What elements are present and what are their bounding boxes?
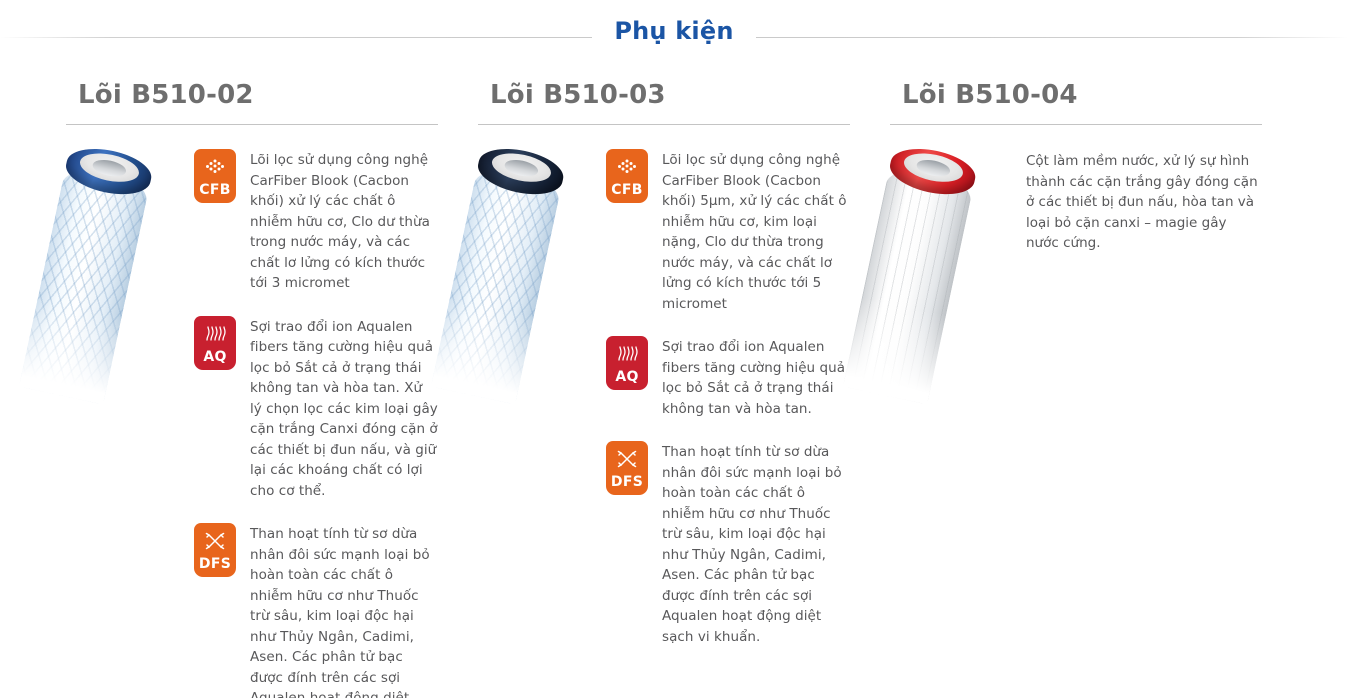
feature-text: Lõi lọc sử dụng công nghệ CarFiber Blook… — [250, 149, 438, 294]
feature-list: CFB Lõi lọc sử dụng công nghệ CarFiber B… — [606, 147, 850, 669]
cartridge-fade — [843, 297, 946, 405]
column-divider — [478, 124, 850, 125]
badge-code: AQ — [203, 350, 226, 365]
badge-code: CFB — [199, 183, 230, 198]
wave-lines-icon — [194, 322, 236, 346]
feature-item: DFS Than hoạt tính từ sơ dừa nhân đôi sứ… — [606, 441, 850, 647]
column-divider — [66, 124, 438, 125]
cross-arrows-icon — [194, 529, 236, 553]
product-column-b510-04: Lõi B510-04 Cột làm mềm nước, xử lý sự h… — [890, 78, 1262, 297]
cartridge-fade — [431, 297, 534, 405]
badge-cfb: CFB — [194, 149, 236, 203]
cartridge-image-b510-03 — [478, 147, 606, 669]
cartridge-image-b510-02 — [66, 147, 194, 698]
badge-code: DFS — [199, 557, 231, 572]
badge-code: CFB — [611, 183, 642, 198]
page-title: Phụ kiện — [592, 16, 755, 46]
badge-code: DFS — [611, 475, 643, 490]
feature-text: Than hoạt tính từ sơ dừa nhân đôi sức mạ… — [250, 523, 438, 698]
feature-text: Than hoạt tính từ sơ dừa nhân đôi sức mạ… — [662, 441, 850, 647]
badge-aq: AQ — [194, 316, 236, 370]
cartridge-fade — [19, 297, 122, 405]
product-column-b510-02: Lõi B510-02 — [66, 78, 438, 698]
badge-dfs: DFS — [606, 441, 648, 495]
column-title: Lõi B510-02 — [78, 78, 438, 124]
feature-item: AQ Sợi trao đổi ion Aqualen fibers tăng … — [606, 336, 850, 419]
feature-item: CFB Lõi lọc sử dụng công nghệ CarFiber B… — [606, 149, 850, 314]
header-rule-left — [0, 37, 620, 38]
wave-lines-icon — [606, 342, 648, 366]
header-rule-right — [728, 37, 1348, 38]
feature-item: CFB Lõi lọc sử dụng công nghệ CarFiber B… — [194, 149, 438, 294]
badge-aq: AQ — [606, 336, 648, 390]
column-title: Lõi B510-04 — [902, 78, 1262, 124]
badge-cfb: CFB — [606, 149, 648, 203]
column-divider — [890, 124, 1262, 125]
product-column-b510-03: Lõi B510-03 — [478, 78, 850, 669]
product-columns: Lõi B510-02 — [0, 62, 1348, 698]
feature-text: Lõi lọc sử dụng công nghệ CarFiber Blook… — [662, 149, 850, 314]
feature-item: AQ Sợi trao đổi ion Aqualen fibers tăng … — [194, 316, 438, 502]
mesh-grid-icon — [606, 155, 648, 179]
page-header: Phụ kiện — [0, 0, 1348, 62]
product-description: Cột làm mềm nước, xử lý sự hình thành cá… — [1026, 149, 1262, 254]
feature-list: CFB Lõi lọc sử dụng công nghệ CarFiber B… — [194, 147, 438, 698]
column-title: Lõi B510-03 — [490, 78, 850, 124]
feature-item: DFS Than hoạt tính từ sơ dừa nhân đôi sứ… — [194, 523, 438, 698]
feature-text: Sợi trao đổi ion Aqualen fibers tăng cườ… — [250, 316, 438, 502]
feature-text: Sợi trao đổi ion Aqualen fibers tăng cườ… — [662, 336, 850, 419]
badge-code: AQ — [615, 370, 638, 385]
badge-dfs: DFS — [194, 523, 236, 577]
description-block: Cột làm mềm nước, xử lý sự hình thành cá… — [1018, 147, 1262, 297]
cross-arrows-icon — [606, 447, 648, 471]
mesh-grid-icon — [194, 155, 236, 179]
cartridge-image-b510-04 — [890, 147, 1018, 297]
